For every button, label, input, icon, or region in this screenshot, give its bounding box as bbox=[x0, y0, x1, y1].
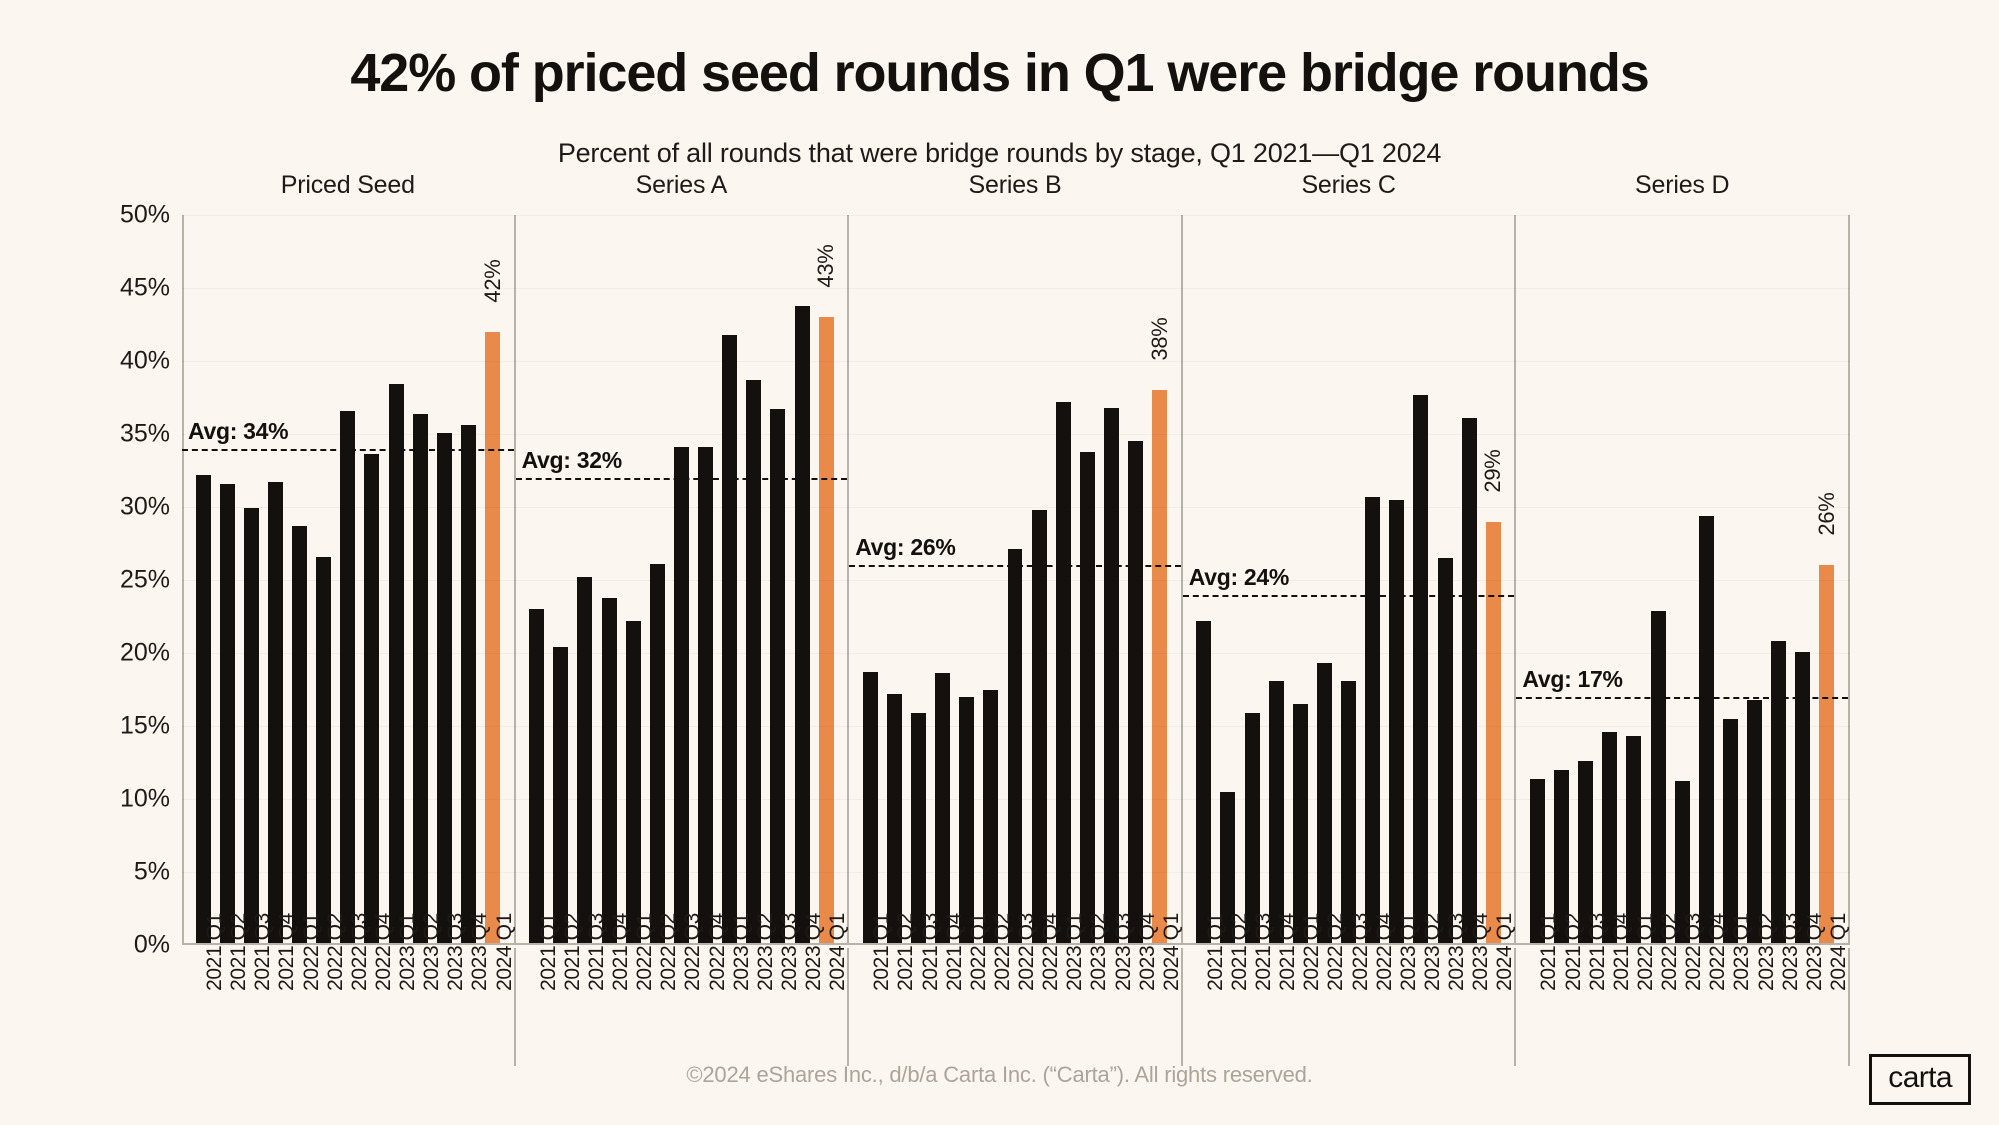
bar[interactable] bbox=[553, 647, 568, 945]
x-tick-cell: 2023 Q4 bbox=[1124, 948, 1148, 1066]
x-tick-cell: 2022 Q2 bbox=[979, 948, 1003, 1066]
bar[interactable] bbox=[1056, 402, 1071, 945]
page-subtitle: Percent of all rounds that were bridge r… bbox=[0, 138, 1999, 169]
x-tick-cell: 2023 Q3 bbox=[432, 948, 456, 1066]
x-tick-cell: 2023 Q3 bbox=[1099, 948, 1123, 1066]
bar[interactable] bbox=[1723, 719, 1738, 945]
bar[interactable] bbox=[1269, 681, 1284, 945]
bar[interactable] bbox=[1365, 497, 1380, 945]
average-line bbox=[849, 565, 1181, 567]
bar[interactable] bbox=[795, 306, 810, 945]
x-tick-cell: 2023 Q1 bbox=[718, 948, 742, 1066]
x-tick-cell: 2021 Q4 bbox=[1264, 948, 1288, 1066]
y-gridline bbox=[182, 507, 1850, 508]
y-tick-label: 30% bbox=[60, 493, 170, 522]
y-gridline bbox=[182, 434, 1850, 435]
y-tick-label: 15% bbox=[60, 712, 170, 741]
x-tick-cell: 2022 Q3 bbox=[1003, 948, 1027, 1066]
x-tick-cell: 2021 Q4 bbox=[263, 948, 287, 1066]
x-tick-cell: 2023 Q4 bbox=[790, 948, 814, 1066]
x-tick-cell: 2021 Q1 bbox=[858, 948, 882, 1066]
panel-title: Series D bbox=[1516, 171, 1848, 200]
bar[interactable] bbox=[1293, 704, 1308, 945]
x-tick-cell: 2022 Q1 bbox=[1622, 948, 1646, 1066]
x-tick-cell: 2023 Q4 bbox=[1791, 948, 1815, 1066]
bar[interactable] bbox=[1245, 713, 1260, 945]
x-tick-cell: 2021 Q2 bbox=[1550, 948, 1574, 1066]
x-tick-cell: 2024 Q1 bbox=[1481, 948, 1505, 1066]
bar[interactable] bbox=[437, 433, 452, 945]
footer-copyright: ©2024 eShares Inc., d/b/a Carta Inc. (“C… bbox=[0, 1062, 1999, 1088]
y-tick-label: 20% bbox=[60, 639, 170, 668]
y-gridline bbox=[182, 799, 1850, 800]
y-gridline bbox=[182, 361, 1850, 362]
x-tick-cell: 2022 Q4 bbox=[693, 948, 717, 1066]
x-tick-cell: 2023 Q1 bbox=[1051, 948, 1075, 1066]
average-line bbox=[182, 449, 514, 451]
x-tick-cell: 2023 Q4 bbox=[456, 948, 480, 1066]
bar-value-label: 26% bbox=[1814, 493, 1840, 536]
x-tick-cell: 2023 Q3 bbox=[766, 948, 790, 1066]
x-tick-cell: 2021 Q2 bbox=[882, 948, 906, 1066]
x-tick-cell: 2024 Q1 bbox=[481, 948, 505, 1066]
panel-title: Priced Seed bbox=[182, 171, 514, 200]
x-tick-cell: 2023 Q1 bbox=[384, 948, 408, 1066]
bar[interactable] bbox=[1438, 558, 1453, 945]
x-tick-cell: 2023 Q3 bbox=[1767, 948, 1791, 1066]
x-tick-cell: 2024 Q1 bbox=[1148, 948, 1172, 1066]
chart-page: 42% of priced seed rounds in Q1 were bri… bbox=[0, 0, 1999, 1125]
x-tick-cell: 2023 Q2 bbox=[1409, 948, 1433, 1066]
x-tick-cell: 2021 Q3 bbox=[1574, 948, 1598, 1066]
y-tick-label: 25% bbox=[60, 566, 170, 595]
bar[interactable] bbox=[1196, 621, 1211, 945]
bar[interactable] bbox=[1080, 452, 1095, 945]
x-tick-label: 2024 Q1 bbox=[1493, 913, 1517, 991]
bar[interactable] bbox=[268, 482, 283, 945]
average-label: Avg: 24% bbox=[1189, 564, 1289, 591]
bar-highlighted[interactable] bbox=[485, 332, 500, 945]
average-label: Avg: 26% bbox=[855, 534, 955, 561]
bar[interactable] bbox=[1771, 641, 1786, 945]
bar[interactable] bbox=[1317, 663, 1332, 945]
x-tick-cell: 2021 Q1 bbox=[1525, 948, 1549, 1066]
x-axis-panel: 2021 Q12021 Q22021 Q32021 Q42022 Q12022 … bbox=[1183, 948, 1517, 1066]
bar[interactable] bbox=[316, 557, 331, 945]
bar[interactable] bbox=[1389, 500, 1404, 945]
bar[interactable] bbox=[461, 425, 476, 945]
bar-highlighted[interactable] bbox=[1486, 522, 1501, 945]
bar[interactable] bbox=[1341, 681, 1356, 945]
x-tick-cell: 2022 Q4 bbox=[1694, 948, 1718, 1066]
bar[interactable] bbox=[1128, 441, 1143, 945]
bar[interactable] bbox=[196, 475, 211, 945]
x-axis-panel: 2021 Q12021 Q22021 Q32021 Q42022 Q12022 … bbox=[182, 948, 516, 1066]
x-tick-cell: 2021 Q2 bbox=[549, 948, 573, 1066]
carta-logo: carta bbox=[1869, 1054, 1971, 1105]
bar-highlighted[interactable] bbox=[819, 317, 834, 945]
x-tick-cell: 2024 Q1 bbox=[814, 948, 838, 1066]
x-tick-cell: 2021 Q2 bbox=[1216, 948, 1240, 1066]
bar[interactable] bbox=[413, 414, 428, 945]
y-gridline bbox=[182, 288, 1850, 289]
x-tick-cell: 2021 Q1 bbox=[1192, 948, 1216, 1066]
x-axis-panel: 2021 Q12021 Q22021 Q32021 Q42022 Q12022 … bbox=[849, 948, 1183, 1066]
y-tick-label: 10% bbox=[60, 785, 170, 814]
average-label: Avg: 17% bbox=[1522, 666, 1622, 693]
x-tick-cell: 2021 Q2 bbox=[215, 948, 239, 1066]
x-tick-cell: 2022 Q2 bbox=[1646, 948, 1670, 1066]
y-tick-label: 0% bbox=[60, 931, 170, 960]
x-tick-cell: 2022 Q3 bbox=[1670, 948, 1694, 1066]
x-axis-panel: 2021 Q12021 Q22021 Q32021 Q42022 Q12022 … bbox=[516, 948, 850, 1066]
bar[interactable] bbox=[722, 335, 737, 945]
x-tick-cell: 2021 Q4 bbox=[931, 948, 955, 1066]
bar-value-label: 29% bbox=[1480, 449, 1506, 492]
average-line bbox=[1516, 697, 1848, 699]
plot-area: 50%45%40%35%30%25%20%15%10%5%0% Priced S… bbox=[182, 215, 1850, 945]
x-tick-cell: 2021 Q1 bbox=[191, 948, 215, 1066]
bar[interactable] bbox=[983, 690, 998, 946]
bar[interactable] bbox=[220, 484, 235, 945]
x-tick-cell: 2022 Q4 bbox=[1027, 948, 1051, 1066]
bar[interactable] bbox=[292, 526, 307, 945]
bar[interactable] bbox=[746, 380, 761, 945]
average-line bbox=[516, 478, 848, 480]
bar[interactable] bbox=[1413, 395, 1428, 945]
y-tick-label: 40% bbox=[60, 347, 170, 376]
average-line bbox=[1183, 595, 1515, 597]
x-tick-cell: 2023 Q2 bbox=[408, 948, 432, 1066]
x-tick-cell: 2023 Q3 bbox=[1433, 948, 1457, 1066]
x-tick-cell: 2023 Q4 bbox=[1457, 948, 1481, 1066]
bar[interactable] bbox=[626, 621, 641, 945]
x-tick-cell: 2022 Q1 bbox=[955, 948, 979, 1066]
x-tick-cell: 2022 Q4 bbox=[1361, 948, 1385, 1066]
bar[interactable] bbox=[911, 713, 926, 945]
x-tick-cell: 2022 Q3 bbox=[669, 948, 693, 1066]
x-tick-cell: 2023 Q1 bbox=[1385, 948, 1409, 1066]
panel-title: Series A bbox=[516, 171, 848, 200]
panel-title: Series C bbox=[1183, 171, 1515, 200]
bar-value-label: 43% bbox=[813, 245, 839, 288]
x-tick-cell: 2022 Q2 bbox=[1312, 948, 1336, 1066]
y-gridline bbox=[182, 726, 1850, 727]
x-tick-cell: 2021 Q3 bbox=[906, 948, 930, 1066]
bar[interactable] bbox=[959, 697, 974, 945]
y-tick-label: 45% bbox=[60, 274, 170, 303]
x-tick-cell: 2022 Q1 bbox=[288, 948, 312, 1066]
x-axis-panel: 2021 Q12021 Q22021 Q32021 Q42022 Q12022 … bbox=[1516, 948, 1850, 1066]
x-tick-cell: 2022 Q3 bbox=[1337, 948, 1361, 1066]
x-tick-cell: 2023 Q2 bbox=[742, 948, 766, 1066]
x-tick-cell: 2021 Q3 bbox=[1240, 948, 1264, 1066]
bar-value-label: 38% bbox=[1147, 318, 1173, 361]
panel-title: Series B bbox=[849, 171, 1181, 200]
bar[interactable] bbox=[935, 673, 950, 945]
y-gridline bbox=[182, 580, 1850, 581]
x-tick-cell: 2024 Q1 bbox=[1815, 948, 1839, 1066]
x-tick-cell: 2023 Q2 bbox=[1075, 948, 1099, 1066]
y-gridline bbox=[182, 872, 1850, 873]
x-tick-cell: 2022 Q1 bbox=[621, 948, 645, 1066]
y-tick-label: 35% bbox=[60, 420, 170, 449]
bar[interactable] bbox=[1651, 611, 1666, 945]
average-label: Avg: 34% bbox=[188, 418, 288, 445]
bar[interactable] bbox=[577, 577, 592, 945]
x-tick-cell: 2023 Q2 bbox=[1743, 948, 1767, 1066]
bar[interactable] bbox=[340, 411, 355, 945]
x-tick-cell: 2021 Q4 bbox=[1598, 948, 1622, 1066]
x-tick-cell: 2021 Q4 bbox=[597, 948, 621, 1066]
bar[interactable] bbox=[674, 447, 689, 945]
x-tick-label: 2024 Q1 bbox=[826, 913, 850, 991]
x-tick-cell: 2021 Q3 bbox=[573, 948, 597, 1066]
x-tick-cell: 2021 Q1 bbox=[525, 948, 549, 1066]
bar[interactable] bbox=[650, 564, 665, 945]
x-tick-cell: 2022 Q1 bbox=[1288, 948, 1312, 1066]
x-tick-label: 2024 Q1 bbox=[1827, 913, 1851, 991]
x-tick-label: 2024 Q1 bbox=[493, 913, 517, 991]
x-tick-cell: 2022 Q4 bbox=[360, 948, 384, 1066]
bar[interactable] bbox=[1104, 408, 1119, 945]
bar[interactable] bbox=[529, 609, 544, 945]
bar[interactable] bbox=[1462, 418, 1477, 945]
bar[interactable] bbox=[1747, 700, 1762, 945]
y-gridline bbox=[182, 653, 1850, 654]
bar-value-label: 42% bbox=[480, 259, 506, 302]
x-tick-cell: 2022 Q2 bbox=[312, 948, 336, 1066]
bar[interactable] bbox=[389, 384, 404, 945]
bar[interactable] bbox=[863, 672, 878, 945]
bar[interactable] bbox=[887, 694, 902, 945]
bar[interactable] bbox=[770, 409, 785, 945]
x-axis-labels: 2021 Q12021 Q22021 Q32021 Q42022 Q12022 … bbox=[182, 948, 1850, 1066]
average-label: Avg: 32% bbox=[522, 447, 622, 474]
bar[interactable] bbox=[1008, 549, 1023, 945]
bar-highlighted[interactable] bbox=[1819, 565, 1834, 945]
x-tick-cell: 2023 Q1 bbox=[1718, 948, 1742, 1066]
page-title: 42% of priced seed rounds in Q1 were bri… bbox=[0, 44, 1999, 103]
bar[interactable] bbox=[1032, 510, 1047, 945]
bar[interactable] bbox=[698, 447, 713, 945]
x-tick-cell: 2021 Q3 bbox=[239, 948, 263, 1066]
y-tick-label: 5% bbox=[60, 858, 170, 887]
bar-highlighted[interactable] bbox=[1152, 390, 1167, 945]
y-gridline bbox=[182, 215, 1850, 216]
x-tick-cell: 2022 Q3 bbox=[336, 948, 360, 1066]
x-tick-cell: 2022 Q2 bbox=[645, 948, 669, 1066]
x-tick-label: 2024 Q1 bbox=[1160, 913, 1184, 991]
bar[interactable] bbox=[602, 598, 617, 945]
y-tick-label: 50% bbox=[60, 201, 170, 230]
